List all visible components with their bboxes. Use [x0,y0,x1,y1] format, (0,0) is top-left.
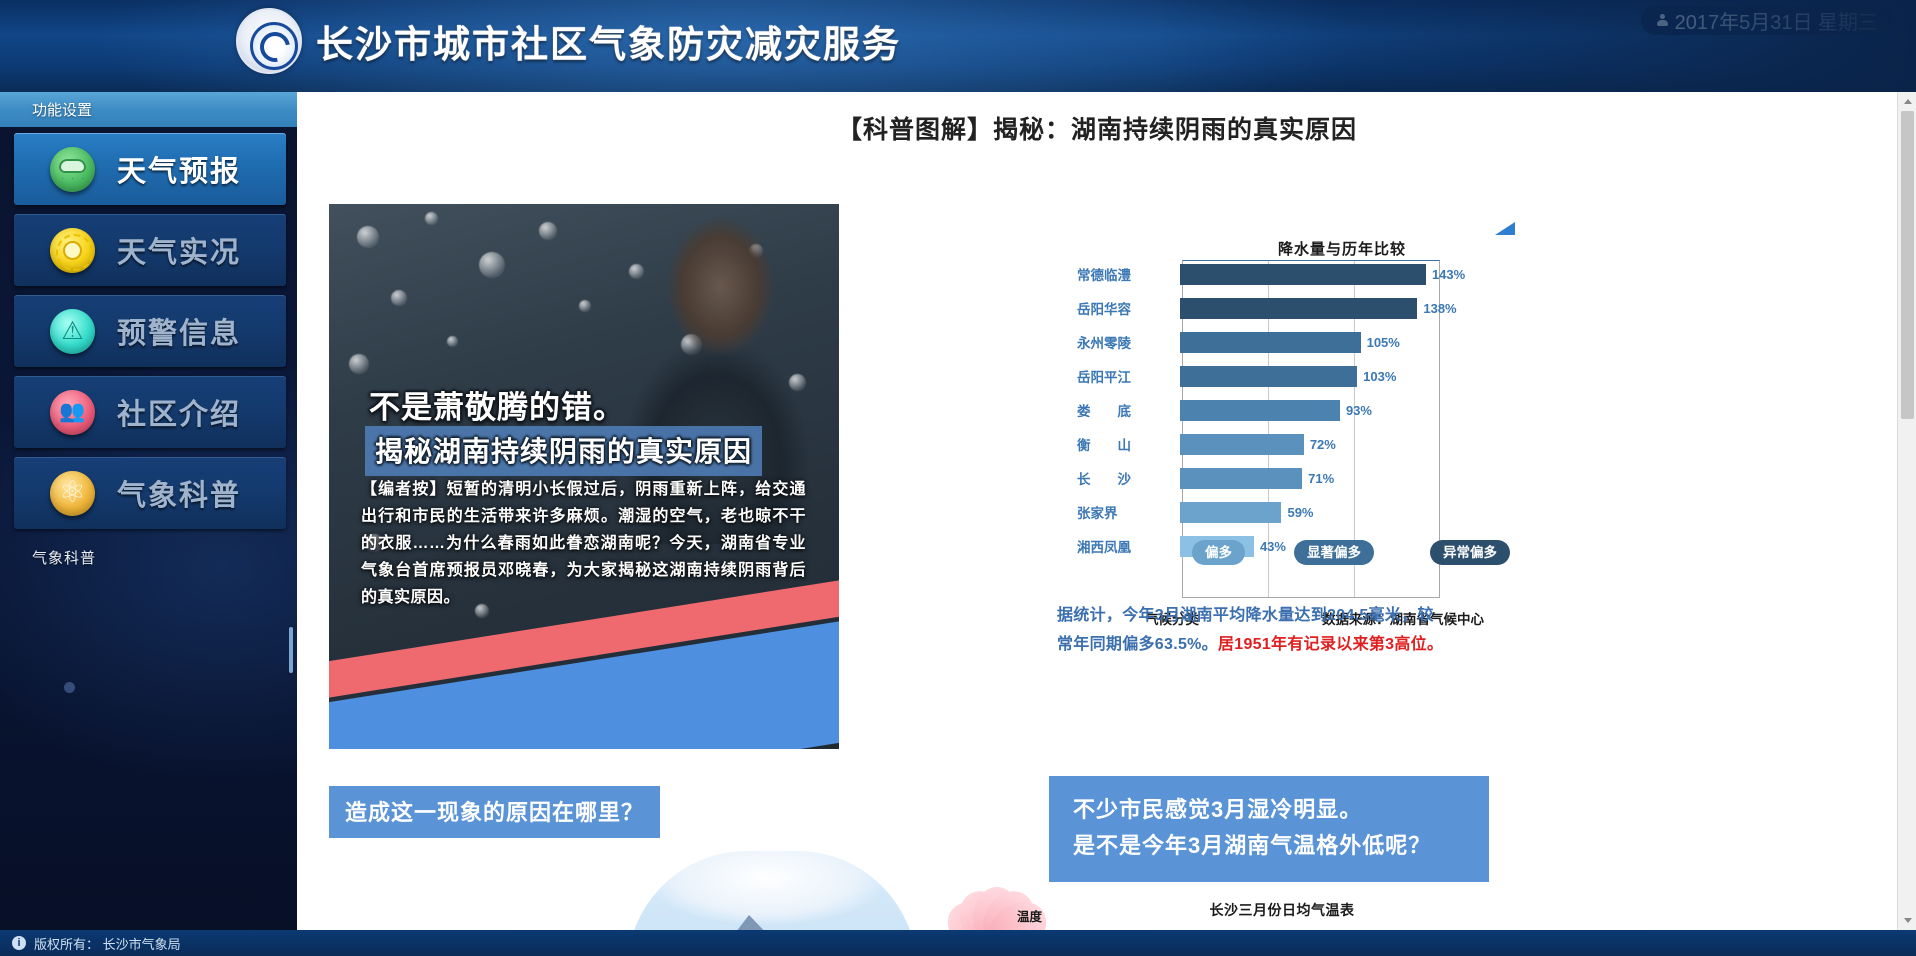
chart-category-label: 岳阳平江 [1077,366,1180,386]
callout-left: 造成这一现象的原因在哪里？ [329,786,660,838]
sidebar-item-label: 预警信息 [117,310,241,352]
chart-category-label: 常德临澧 [1077,264,1180,284]
chart-value-label: 138% [1423,301,1456,316]
scrollbar-thumb[interactable] [1901,111,1914,419]
chart-bar-row: 衡 山72% [1077,430,1547,458]
chart-value-label: 59% [1287,505,1313,520]
article-body: 不是萧敬腾的错。 揭秘湖南持续阴雨的真实原因 【编者按】短暂的清明小长假过后，阴… [297,146,1897,930]
sidebar: 功能设置 天气预报 天气实况 预警信息 社区介绍 气象科普 气象科普 [0,92,297,956]
article-title: 【科普图解】揭秘：湖南持续阴雨的真实原因 [297,92,1897,146]
stats-highlight: 居1951年有记录以来第3高位。 [1218,636,1443,653]
chart-bar [1180,332,1361,353]
chart-bar [1180,434,1304,455]
copyright-text: 版权所有： 长沙市气象局 [34,934,181,953]
sidebar-menu: 天气预报 天气实况 预警信息 社区介绍 气象科普 [0,127,297,529]
chart-category-label: 衡 山 [1077,434,1180,454]
chart-bar [1180,366,1357,387]
mountain-front-shape [683,915,831,930]
atom-icon [50,471,95,516]
chart-value-label: 71% [1308,471,1334,486]
hero-headline: 不是萧敬腾的错。 [369,382,625,427]
page-title: 长沙市城市社区气象防灾减灾服务 [316,14,901,68]
sidebar-decoration-dot [64,682,75,693]
sidebar-sub-label: 气象科普 [32,547,297,568]
date-badge: 2017年5月31日 星期三 [1641,6,1894,35]
temperature-chart: 温度 长沙三月份日均气温表 长沙日均气温 气候平均 [1007,894,1487,930]
chart-bar [1180,400,1340,421]
chart-legend-pill-3[interactable]: 异常偏多 [1430,540,1510,565]
chart-legend-pill-1[interactable]: 偏多 [1192,540,1245,565]
chart-bars: 常德临澧143%岳阳华容138%永州零陵105%岳阳平江103%娄 底93%衡 … [1077,260,1547,566]
sidebar-item-label: 天气实况 [117,229,241,271]
chart-bar-row: 长 沙71% [1077,464,1547,492]
app-header: 长沙市城市社区气象防灾减灾服务 2017年5月31日 星期三 [0,0,1916,92]
chart-category-label: 张家界 [1077,502,1180,522]
hero-subheadline: 揭秘湖南持续阴雨的真实原因 [365,426,762,476]
chart-legend-pill-2[interactable]: 显著偏多 [1294,540,1374,565]
callout-right: 不少市民感觉3月湿冷明显。 是不是今年3月湖南气温格外低呢？ [1049,776,1489,882]
chart-bar-row: 岳阳平江103% [1077,362,1547,390]
chart-bar-row: 常德临澧143% [1077,260,1547,288]
callout-right-line-1: 不少市民感觉3月湿冷明显。 [1073,792,1469,828]
sidebar-item-live-weather[interactable]: 天气实况 [14,214,286,286]
chart-value-label: 93% [1346,403,1372,418]
sidebar-section-title: 功能设置 [0,92,297,127]
info-icon: i [12,936,26,950]
chart-value-label: 72% [1310,437,1336,452]
hero-image: 不是萧敬腾的错。 揭秘湖南持续阴雨的真实原因 【编者按】短暂的清明小长假过后，阴… [329,204,839,749]
chart-bar-row: 娄 底93% [1077,396,1547,424]
temp-chart-ylabel: 温度 [1017,906,1042,925]
sun-icon [50,228,95,273]
hero-body-text: 【编者按】短暂的清明小长假过后，阴雨重新上阵，给交通出行和市民的生活带来许多麻烦… [361,476,806,611]
sidebar-item-science-popularization[interactable]: 气象科普 [14,457,286,529]
chart-value-label: 143% [1432,267,1465,282]
cloud-rain-icon [50,147,95,192]
chart-bar-row: 岳阳华容138% [1077,294,1547,322]
scroll-down-arrow-icon[interactable] [1898,911,1916,930]
chart-category-label: 娄 底 [1077,400,1180,420]
sidebar-item-label: 天气预报 [117,148,241,190]
main-content: 【科普图解】揭秘：湖南持续阴雨的真实原因 [297,92,1897,930]
corner-triangle-decoration [1495,222,1515,235]
stats-line-1: 据统计，今年3月湖南平均降水量达到204.5毫米，较 [1057,607,1434,624]
chart-category-label: 湘西凤凰 [1077,536,1180,556]
chart-bar [1180,264,1426,285]
chart-value-label: 103% [1363,369,1396,384]
chart-bar [1180,298,1417,319]
footer-bar: i 版权所有： 长沙市气象局 [0,930,1916,956]
chart-title: 降水量与历年比较 [1177,238,1507,259]
scroll-up-arrow-icon[interactable] [1898,92,1916,111]
sidebar-item-label: 气象科普 [117,472,241,514]
chart-bar-row: 张家界59% [1077,498,1547,526]
chart-bar [1180,468,1302,489]
chart-bar-row: 永州零陵105% [1077,328,1547,356]
date-text: 2017年5月31日 星期三 [1675,6,1878,35]
sidebar-item-alerts[interactable]: 预警信息 [14,295,286,367]
warning-triangle-icon [50,309,95,354]
chart-category-label: 长 沙 [1077,468,1180,488]
stats-line-2: 常年同期偏多63.5%。 [1057,636,1218,653]
header-brand: 长沙市城市社区气象防灾减灾服务 [236,8,901,74]
chart-category-label: 永州零陵 [1077,332,1180,352]
people-group-icon [50,390,95,435]
temp-chart-title: 长沙三月份日均气温表 [1147,900,1417,920]
chart-bar [1180,502,1281,523]
sidebar-item-community-intro[interactable]: 社区介绍 [14,376,286,448]
chart-category-label: 岳阳华容 [1077,298,1180,318]
sidebar-item-weather-forecast[interactable]: 天气预报 [14,133,286,205]
sidebar-scrollbar-thumb[interactable] [289,627,293,673]
cma-logo [236,8,302,74]
chart-value-label: 105% [1367,335,1400,350]
statistics-text: 据统计，今年3月湖南平均降水量达到204.5毫米，较 常年同期偏多63.5%。居… [1057,601,1487,659]
sidebar-item-label: 社区介绍 [117,391,241,433]
page-scrollbar[interactable] [1897,92,1916,930]
landscape-illustration [627,851,917,930]
chart-legend: 偏多显著偏多异常偏多 [1182,540,1512,570]
person-icon [1657,14,1668,27]
callout-right-line-2: 是不是今年3月湖南气温格外低呢？ [1073,828,1469,864]
